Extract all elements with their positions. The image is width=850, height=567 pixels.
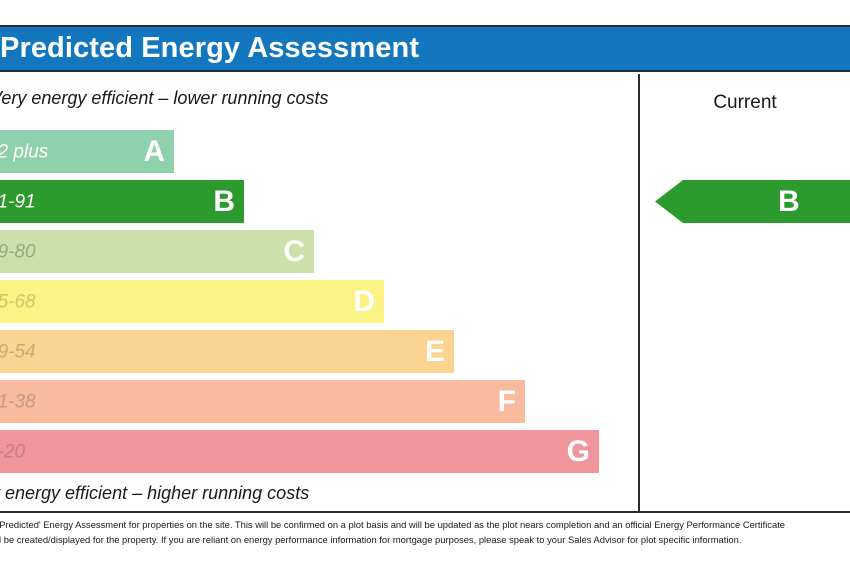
energy-band-c: 69-80C bbox=[0, 230, 314, 273]
footnote-line-1: This is a 'Predicted' Energy Assessment … bbox=[0, 518, 850, 533]
current-rating-letter: B bbox=[778, 187, 800, 217]
band-letter-c: C bbox=[283, 237, 305, 267]
band-letter-a: A bbox=[143, 137, 165, 167]
band-range-c: 69-80 bbox=[0, 242, 36, 261]
band-range-f: 21-38 bbox=[0, 392, 36, 411]
energy-band-g: 1-20G bbox=[0, 430, 599, 473]
footnote-line-2: (EPC) will be created/displayed for the … bbox=[0, 533, 850, 548]
band-range-d: 55-68 bbox=[0, 292, 36, 311]
energy-band-a: 92 plusA bbox=[0, 130, 174, 173]
band-range-g: 1-20 bbox=[0, 442, 25, 461]
footnote: This is a 'Predicted' Energy Assessment … bbox=[0, 518, 850, 547]
energy-band-d: 55-68D bbox=[0, 280, 384, 323]
band-letter-d: D bbox=[353, 287, 375, 317]
energy-assessment-chart: Predicted Energy Assessment Very energy … bbox=[0, 0, 850, 567]
energy-band-f: 21-38F bbox=[0, 380, 525, 423]
band-letter-e: E bbox=[425, 337, 445, 367]
energy-band-b: 81-91B bbox=[0, 180, 244, 223]
band-range-e: 39-54 bbox=[0, 342, 36, 361]
band-list: 92 plusA81-91B69-80C55-68D39-54E21-38F1-… bbox=[0, 0, 640, 520]
column-heading-current: Current bbox=[640, 92, 850, 114]
band-range-a: 92 plus bbox=[0, 142, 48, 161]
current-rating-arrow: B bbox=[655, 180, 850, 223]
energy-band-e: 39-54E bbox=[0, 330, 454, 373]
band-range-b: 81-91 bbox=[0, 192, 36, 211]
band-letter-b: B bbox=[213, 187, 235, 217]
band-letter-g: G bbox=[567, 437, 590, 467]
band-letter-f: F bbox=[498, 387, 516, 417]
